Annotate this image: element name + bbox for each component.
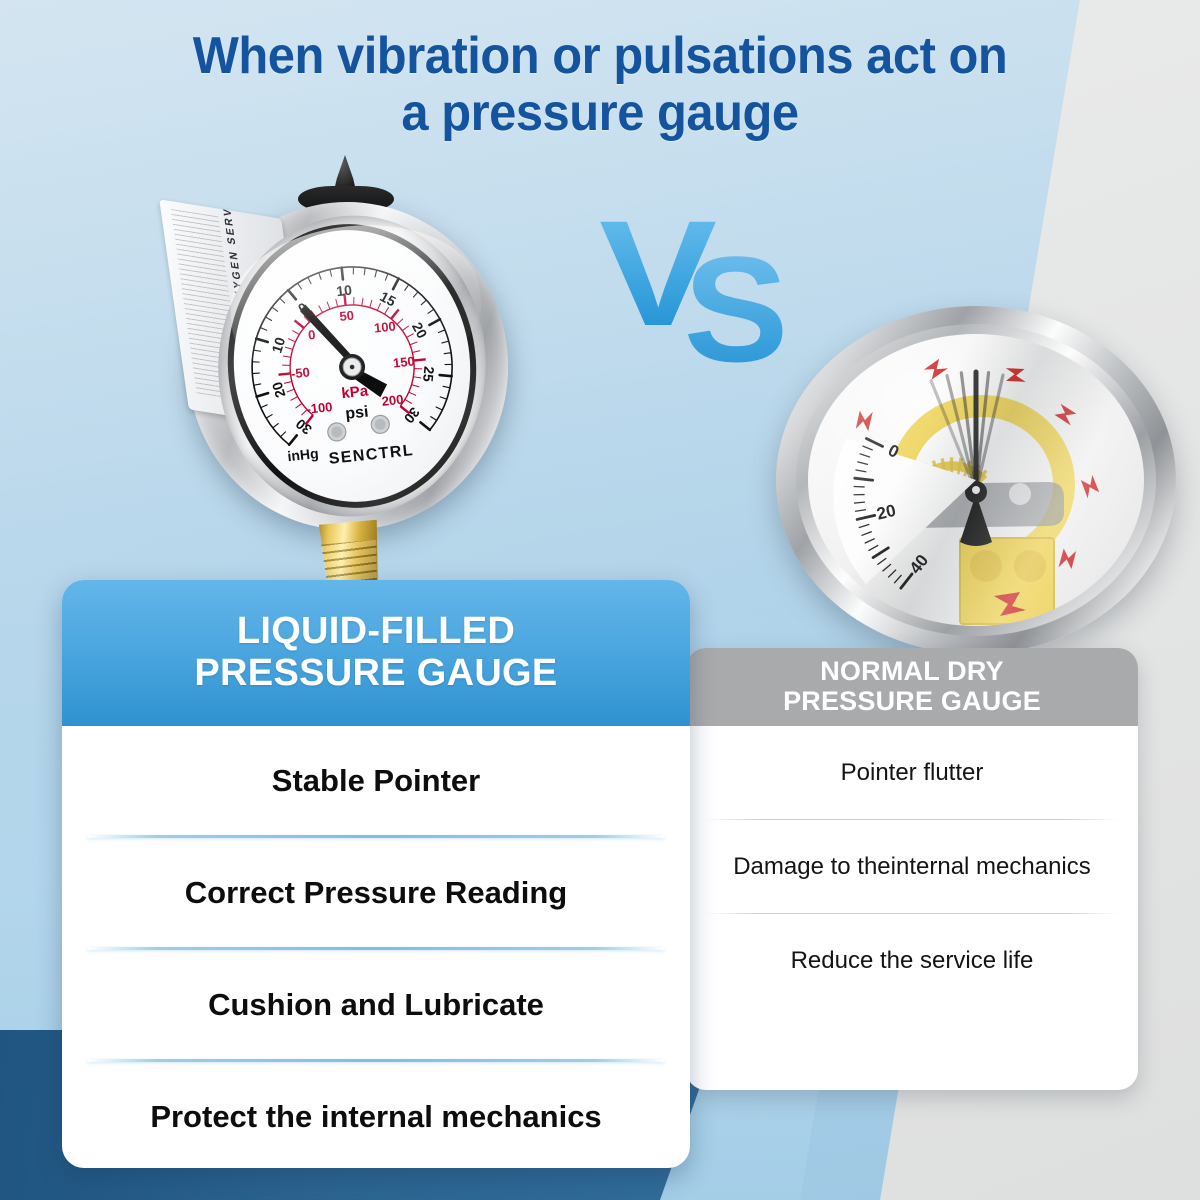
dry-gauge-svg: 02040: [808, 334, 1144, 626]
gauge-tick: [385, 274, 389, 281]
gauge-tick: [444, 353, 451, 354]
gauge-tick: [384, 307, 390, 314]
page-title-line-2: a pressure gauge: [36, 85, 1164, 142]
gauge-tick-label: 25: [420, 366, 437, 383]
gauge-tick: [252, 373, 259, 374]
gauge-tick: [254, 349, 261, 352]
dry-gauge-dial-face: 02040: [808, 334, 1144, 626]
gauge-tick: [442, 341, 449, 343]
gauge-tick: [369, 300, 373, 308]
gauge-tick: [327, 301, 330, 309]
gauge-tick-label: 0: [307, 327, 316, 343]
list-item: Protect the internal mechanics: [88, 1062, 664, 1168]
gauge-tick: [866, 439, 882, 447]
gauge-tick-label: -50: [290, 364, 310, 381]
dry-card-title-line-1: NORMAL DRY: [783, 656, 1041, 686]
gauge-tick-label: 100: [373, 318, 396, 335]
gauge-tick: [353, 297, 355, 305]
gauge-tick: [288, 289, 296, 300]
gauge-dial-face: 30201001015202530 -100-50050100150200 kP…: [220, 218, 483, 513]
gauge-tick: [410, 342, 418, 345]
gauge-tick: [413, 376, 421, 379]
gauge-tick: [420, 421, 429, 430]
gauge-tick: [279, 373, 291, 374]
list-item: Reduce the service life: [704, 914, 1120, 1007]
gauge-tick: [414, 359, 426, 360]
vibration-mark: [851, 406, 877, 434]
liquid-filled-gauge-photo: NOT USE ON OXYGEN SERVICE 30201001015202…: [168, 150, 528, 600]
gauge-tick: [377, 303, 382, 310]
gauge-tick: [402, 326, 409, 331]
gauge-tick: [256, 337, 268, 343]
gauge-tick: [440, 374, 452, 378]
liquid-card-body: Stable PointerCorrect Pressure ReadingCu…: [62, 726, 690, 1168]
vibration-mark: [922, 357, 949, 381]
gauge-tick: [431, 416, 437, 421]
gauge-tick: [412, 351, 420, 353]
gauge-tick: [285, 346, 293, 350]
gauge-tick: [260, 327, 266, 331]
gauge-tick: [428, 309, 434, 313]
gauge-tick: [361, 298, 364, 306]
gauge-tick: [252, 361, 259, 363]
gauge-tick: [404, 285, 409, 291]
gauge-tick: [342, 268, 343, 280]
page-title-line-1: When vibration or pulsations act on: [36, 28, 1164, 85]
gauge-tick: [287, 389, 295, 392]
gauge-tick-label: 20: [409, 320, 431, 342]
gauge-tick: [895, 575, 902, 582]
gauge-tick: [413, 292, 419, 297]
gauge-tick: [336, 299, 338, 307]
vibration-mark: [1054, 545, 1080, 573]
gauge-dial-svg: 30201001015202530 -100-50050100150200 kP…: [220, 218, 483, 513]
gauge-tick: [443, 386, 450, 389]
gauge-tick: [429, 319, 441, 325]
list-item: Pointer flutter: [704, 726, 1120, 819]
gauge-tick: [283, 355, 291, 358]
list-item-line: internal mechanics: [891, 852, 1091, 881]
gauge-tick: [438, 330, 445, 333]
gauge-tick-label: 10: [335, 282, 352, 300]
gauge-tick: [288, 338, 295, 343]
list-item: Correct Pressure Reading: [88, 838, 664, 947]
gauge-tick: [421, 300, 427, 305]
gauge-tick-label: 50: [339, 308, 355, 324]
gauge-tick: [353, 267, 355, 274]
dry-card-header: NORMAL DRY PRESSURE GAUGE: [686, 648, 1138, 726]
gauge-tick: [266, 415, 273, 419]
gauge-tick-label: 15: [377, 288, 398, 310]
gauge-tick: [405, 399, 412, 405]
gauge-tick: [282, 364, 290, 366]
gauge-tick: [261, 405, 268, 408]
dry-card-title-line-2: PRESSURE GAUGE: [783, 686, 1041, 716]
gauge-tick: [272, 307, 278, 312]
gauge-tick-label: 150: [392, 353, 415, 370]
gauge-tick-label: 10: [268, 335, 288, 355]
list-item-line: Correct Pressure Reading: [185, 874, 567, 911]
gauge-unit-inhg: inHg: [287, 445, 320, 464]
liquid-filled-gauge-card: LIQUID-FILLED PRESSURE GAUGE Stable Poin…: [62, 580, 690, 1168]
vibration-mark: [1080, 474, 1099, 499]
gauge-tick-label: -100: [306, 399, 333, 417]
gauge-tick: [319, 273, 321, 280]
gauge-tick: [290, 397, 298, 401]
gauge-tick: [855, 502, 865, 503]
gauge-tick: [889, 570, 896, 577]
gauge-tick: [392, 278, 400, 289]
gauge-tick: [364, 268, 366, 275]
gauge-unit-psi: psi: [345, 404, 370, 423]
liquid-card-header: LIQUID-FILLED PRESSURE GAUGE: [62, 580, 690, 726]
gauge-tick: [901, 574, 912, 588]
gauge-tick: [436, 406, 442, 410]
dry-gauge-cutaway-photo: 02040: [762, 300, 1182, 660]
liquid-card-title-line-1: LIQUID-FILLED: [194, 611, 557, 653]
gauge-tick: [440, 396, 447, 400]
gauge-tick: [266, 316, 272, 321]
gauge-tick: [292, 330, 299, 336]
gauge-tick: [280, 432, 286, 437]
list-item: Stable Pointer: [88, 726, 664, 835]
list-item-line: Damage to the: [733, 852, 890, 881]
list-item: Damage to theinternal mechanics: [704, 820, 1120, 913]
gauge-tick: [295, 320, 304, 329]
gauge-tick: [409, 391, 416, 396]
gauge-tick: [445, 364, 452, 365]
gauge-brand-label: SENCTRL: [328, 442, 415, 468]
gauge-tick: [390, 309, 399, 318]
gauge-tick: [256, 393, 268, 397]
gauge-tick: [280, 298, 285, 304]
gauge-tick: [397, 319, 404, 325]
normal-dry-gauge-card: NORMAL DRY PRESSURE GAUGE Pointer flutte…: [686, 648, 1138, 1090]
flutter-needle: [976, 375, 1003, 492]
gauge-tick: [412, 384, 420, 388]
vibration-mark: [1002, 363, 1029, 386]
gauge-tick-label: 200: [381, 392, 404, 409]
gauge-tick: [298, 283, 302, 290]
gauge-tick: [308, 277, 311, 284]
list-item-line: Pointer flutter: [841, 758, 984, 787]
gauge-tick: [284, 381, 292, 383]
list-item-line: Stable Pointer: [272, 762, 480, 799]
gauge-tick: [374, 270, 377, 277]
list-item-line: Cushion and Lubricate: [208, 986, 544, 1023]
gauge-tick: [272, 424, 278, 428]
list-item: Cushion and Lubricate: [88, 950, 664, 1059]
gauge-tick-label: 40: [906, 551, 933, 578]
dry-card-body: Pointer flutterDamage to theinternal mec…: [686, 726, 1138, 1007]
gauge-tick: [254, 384, 261, 385]
liquid-card-title-line-2: PRESSURE GAUGE: [194, 653, 557, 695]
gauge-tick: [288, 435, 297, 444]
socket-block: [960, 538, 1054, 624]
gauge-tick: [319, 305, 323, 313]
page-title: When vibration or pulsations act on a pr…: [36, 28, 1164, 142]
gauge-tick: [330, 269, 332, 276]
list-item-line: Reduce the service life: [791, 946, 1034, 975]
vibration-mark: [1052, 400, 1080, 428]
list-item-line: Protect the internal mechanics: [150, 1098, 601, 1135]
gauge-tick: [295, 403, 302, 408]
